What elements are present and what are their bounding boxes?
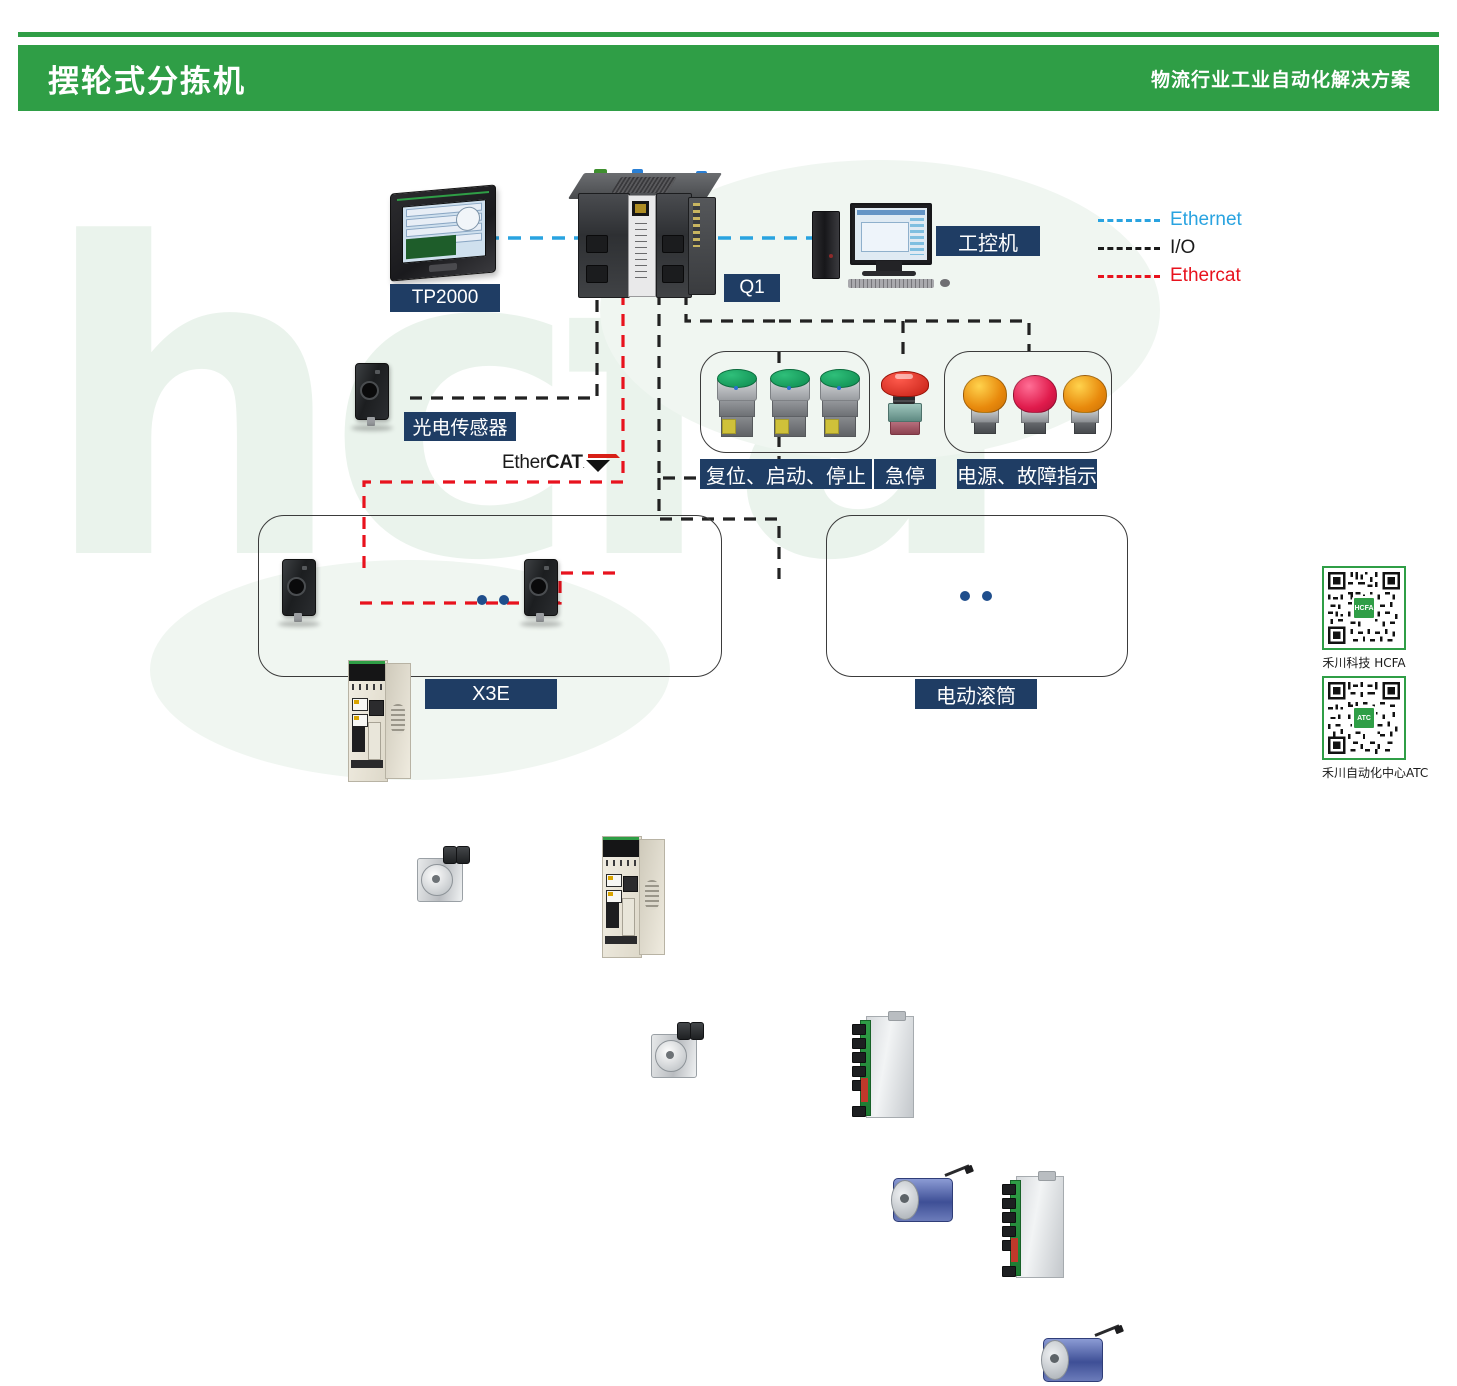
label-x3e: X3E <box>425 679 557 709</box>
sensor-shadow <box>278 621 320 627</box>
pushbutton-3 <box>818 369 860 441</box>
lamp-dome-red <box>1013 375 1057 413</box>
header-top-rule <box>18 32 1439 37</box>
servo-motor-2 <box>647 1022 705 1078</box>
legend-item-ethernet: Ethernet <box>1098 207 1242 233</box>
estop-art <box>881 369 927 441</box>
qr-code-atc[interactable]: ATC 禾川自动化中心ATC <box>1322 676 1428 781</box>
io-port <box>852 1066 866 1077</box>
hmi-body <box>390 184 496 281</box>
indicator-lamp-amber-1 <box>962 375 1006 437</box>
motor-encoder-connector <box>456 846 470 864</box>
servo-drive-1 <box>348 660 410 780</box>
io-port <box>852 1106 866 1117</box>
scada-titlebar <box>857 210 925 215</box>
label-pushbuttons: 复位、启动、停止 <box>700 459 872 489</box>
sensor-shadow <box>520 621 562 627</box>
servo-brand-stripe <box>603 837 639 840</box>
legend-item-ethercat: Ethercat <box>1098 263 1242 289</box>
motor-power-connector <box>443 846 457 864</box>
label-x3e-text: X3E <box>472 683 510 706</box>
servo-motor-1 <box>413 846 471 902</box>
motor-shaft <box>432 875 440 883</box>
scada-diagram <box>861 222 909 252</box>
monitor-stand <box>876 261 902 271</box>
servo-keypad <box>352 684 382 690</box>
drum-connector <box>964 1165 974 1174</box>
servo-brand-stripe <box>349 661 385 664</box>
sensor-indicator-led <box>544 566 549 570</box>
pb-marker <box>837 386 841 390</box>
indicator-lamp-amber-2 <box>1062 375 1106 437</box>
ethercat-suffix: . <box>583 461 585 470</box>
legend: Ethernet I/O Ethercat <box>1098 207 1242 291</box>
ethercat-bold: CAT <box>546 452 583 473</box>
label-photo-sensor: 光电传感器 <box>404 412 516 441</box>
servo-encoder-connector <box>369 700 384 716</box>
industrial-pc <box>812 203 952 295</box>
mouse <box>940 279 950 287</box>
pb-marker <box>787 386 791 390</box>
qr-center-logo-atc: ATC <box>1352 706 1376 730</box>
photo-sensor-main <box>355 363 389 429</box>
label-q1-text: Q1 <box>739 277 764 299</box>
plc-vent-grille <box>611 177 677 193</box>
servo-power-terminal <box>622 898 635 936</box>
plc-controller <box>570 173 720 298</box>
label-tp2000: TP2000 <box>390 284 500 312</box>
servo-display-head <box>603 837 639 857</box>
servo-power-terminal <box>368 722 381 760</box>
drum-shaft <box>900 1194 909 1203</box>
qr-image-hcfa: HCFA <box>1322 566 1406 650</box>
io-port <box>1002 1266 1016 1277</box>
label-indicators: 电源、故障指示 <box>957 459 1097 489</box>
hmi-bezel-button <box>429 263 457 272</box>
io-port <box>852 1052 866 1063</box>
ethercat-arrow-mark <box>586 452 622 474</box>
io-port <box>1002 1198 1016 1209</box>
label-estop: 急停 <box>874 459 936 489</box>
diagram-canvas: Ethernet I/O Ethercat TP2000 <box>0 111 1457 812</box>
qr-code-hcfa[interactable]: HCFA 禾川科技 HCFA <box>1322 566 1406 671</box>
motor-shaft <box>666 1051 674 1059</box>
pc-monitor <box>850 203 932 265</box>
qr-center-logo-hcfa: HCFA <box>1352 596 1376 620</box>
pushbutton-1 <box>715 369 757 441</box>
plc-port-center-1 <box>662 235 684 253</box>
hmi-screen-graph <box>406 235 456 259</box>
io-din-clip <box>888 1011 906 1021</box>
lamp-art <box>962 375 1006 437</box>
ethercat-logo: EtherCAT. <box>502 452 622 474</box>
io-port <box>852 1038 866 1049</box>
sensor-lens <box>287 577 306 596</box>
x3e-continuation-dots <box>477 595 509 605</box>
photo-sensor-x3e-1 <box>282 559 316 625</box>
legend-item-io: I/O <box>1098 235 1242 261</box>
plc-terminal-marks <box>635 223 647 283</box>
dot <box>499 595 509 605</box>
lamp-dome-amber <box>963 375 1007 413</box>
pushbutton-art <box>715 369 757 441</box>
io-backplate <box>1016 1176 1064 1278</box>
page-title: 摆轮式分拣机 <box>48 56 246 101</box>
pushbutton-2 <box>768 369 810 441</box>
lamp-dome-amber <box>1063 375 1107 413</box>
qr-image-atc: ATC <box>1322 676 1406 760</box>
ethercat-prefix: Ether <box>502 452 546 473</box>
legend-label-ethernet: Ethernet <box>1170 209 1242 231</box>
plc-display <box>632 201 649 216</box>
page-header: 摆轮式分拣机 物流行业工业自动化解决方案 <box>18 45 1439 111</box>
pb-cap-green <box>820 369 860 388</box>
io-port <box>852 1024 866 1035</box>
motor-connectors <box>677 1022 703 1040</box>
ethercat-wordmark: EtherCAT. <box>502 452 585 474</box>
io-power-terminal <box>1011 1238 1018 1262</box>
legend-swatch-io <box>1098 247 1160 250</box>
pb-cap-green <box>717 369 757 388</box>
io-port <box>1002 1226 1016 1237</box>
drum-shaft <box>1050 1354 1059 1363</box>
motor-power-connector <box>677 1022 691 1040</box>
label-roller-text: 电动滚筒 <box>936 680 1016 709</box>
servo-encoder-connector <box>623 876 638 892</box>
servo-io-terminal <box>606 902 619 928</box>
legend-label-io: I/O <box>1170 237 1195 259</box>
pc-tower <box>812 211 840 279</box>
servo-bottom-terminal <box>605 936 637 944</box>
servo-fan <box>391 704 405 734</box>
label-pushbuttons-text: 复位、启动、停止 <box>706 460 866 489</box>
sensor-indicator-led <box>302 566 307 570</box>
plc-port-left-2 <box>586 265 608 283</box>
pushbutton-art <box>818 369 860 441</box>
legend-label-ethercat: Ethercat <box>1170 265 1241 287</box>
photo-sensor-body <box>282 559 316 625</box>
label-roller: 电动滚筒 <box>915 679 1037 709</box>
keyboard <box>848 279 934 288</box>
label-photo-sensor-text: 光电传感器 <box>412 413 507 440</box>
dot <box>477 595 487 605</box>
servo-ethercat-in <box>606 874 622 887</box>
io-module-2 <box>1002 1176 1066 1280</box>
dot <box>982 591 992 601</box>
pc-power-led <box>829 254 833 258</box>
plc-port-left-1 <box>586 235 608 253</box>
label-ipc: 工控机 <box>936 226 1040 256</box>
io-port <box>1002 1184 1016 1195</box>
sensor-lens <box>529 577 548 596</box>
pb-marker <box>734 386 738 390</box>
io-module-1 <box>852 1016 916 1120</box>
sensor-lens <box>360 381 379 400</box>
servo-bottom-terminal <box>351 760 383 768</box>
qr-caption-atc: 禾川自动化中心ATC <box>1322 764 1428 781</box>
label-estop-text: 急停 <box>885 460 925 489</box>
hmi-panel-tp2000 <box>390 189 496 277</box>
sensor-indicator-led <box>375 370 380 374</box>
label-ipc-text: 工控机 <box>958 227 1018 256</box>
legend-swatch-ethercat <box>1098 275 1160 278</box>
legend-swatch-ethernet <box>1098 219 1160 222</box>
photo-sensor-body <box>524 559 558 625</box>
servo-io-terminal <box>352 726 365 752</box>
servo-ethercat-in <box>352 698 368 711</box>
plc-port-center-2 <box>662 265 684 283</box>
io-port <box>1002 1212 1016 1223</box>
servo-display-head <box>349 661 385 681</box>
emergency-stop-button <box>881 369 927 441</box>
label-q1: Q1 <box>724 274 780 302</box>
pushbutton-art <box>768 369 810 441</box>
sensor-shadow <box>351 425 393 431</box>
hmi-screen <box>402 199 486 263</box>
pb-terminal <box>722 419 736 434</box>
io-backplate <box>866 1016 914 1118</box>
pb-cap-green <box>770 369 810 388</box>
photo-sensor-x3e-2 <box>524 559 558 625</box>
drum-motor-1 <box>893 1170 971 1226</box>
qr-caption-hcfa: 禾川科技 HCFA <box>1322 654 1406 671</box>
label-tp2000-text: TP2000 <box>412 287 479 309</box>
pb-terminal <box>775 419 789 434</box>
motor-connectors <box>443 846 469 864</box>
drum-connector <box>1114 1325 1124 1334</box>
pc-monitor-screen <box>855 208 927 260</box>
roller-continuation-dots <box>960 591 992 601</box>
lamp-art <box>1012 375 1056 437</box>
motor-encoder-connector <box>690 1022 704 1040</box>
plc-status-leds <box>693 203 700 247</box>
io-power-terminal <box>861 1078 868 1102</box>
monitor-base <box>862 271 916 276</box>
estop-contact-block-1 <box>888 403 922 422</box>
label-indicators-text: 电源、故障指示 <box>957 460 1097 489</box>
estop-highlight <box>895 374 913 379</box>
servo-keypad <box>606 860 636 866</box>
servo-fan <box>645 880 659 910</box>
servo-drive-2 <box>602 836 664 956</box>
dot <box>960 591 970 601</box>
drum-motor-2 <box>1043 1330 1121 1386</box>
pb-terminal <box>825 419 839 434</box>
indicator-lamp-red <box>1012 375 1056 437</box>
page-subtitle: 物流行业工业自动化解决方案 <box>1151 65 1411 92</box>
scada-sidepanel <box>910 218 924 255</box>
lamp-art <box>1062 375 1106 437</box>
photo-sensor-body <box>355 363 389 429</box>
io-din-clip <box>1038 1171 1056 1181</box>
